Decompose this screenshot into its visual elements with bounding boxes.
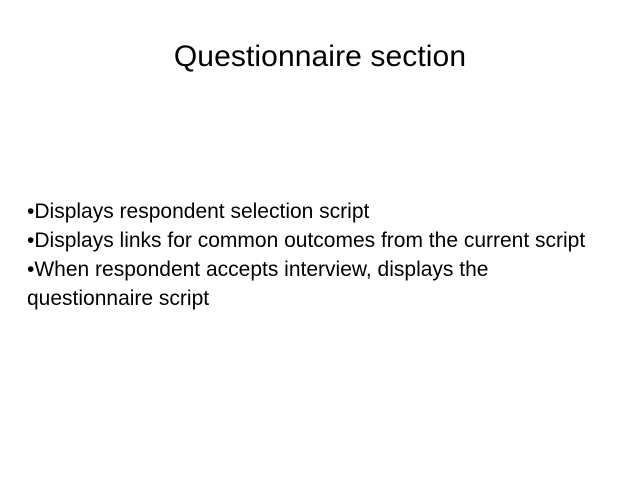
- list-item-label: Displays respondent selection script: [34, 200, 369, 223]
- list-item-label: Displays links for common outcomes from …: [34, 229, 585, 252]
- presentation-slide: Questionnaire section •Displays responde…: [0, 0, 640, 480]
- list-item-label: When respondent accepts interview, displ…: [27, 258, 488, 310]
- list-item: •When respondent accepts interview, disp…: [27, 255, 613, 313]
- page-title: Questionnaire section: [0, 38, 640, 76]
- list-item: •Displays links for common outcomes from…: [27, 226, 613, 255]
- bullet-list: •Displays respondent selection script •D…: [27, 197, 613, 313]
- list-item: •Displays respondent selection script: [27, 197, 613, 226]
